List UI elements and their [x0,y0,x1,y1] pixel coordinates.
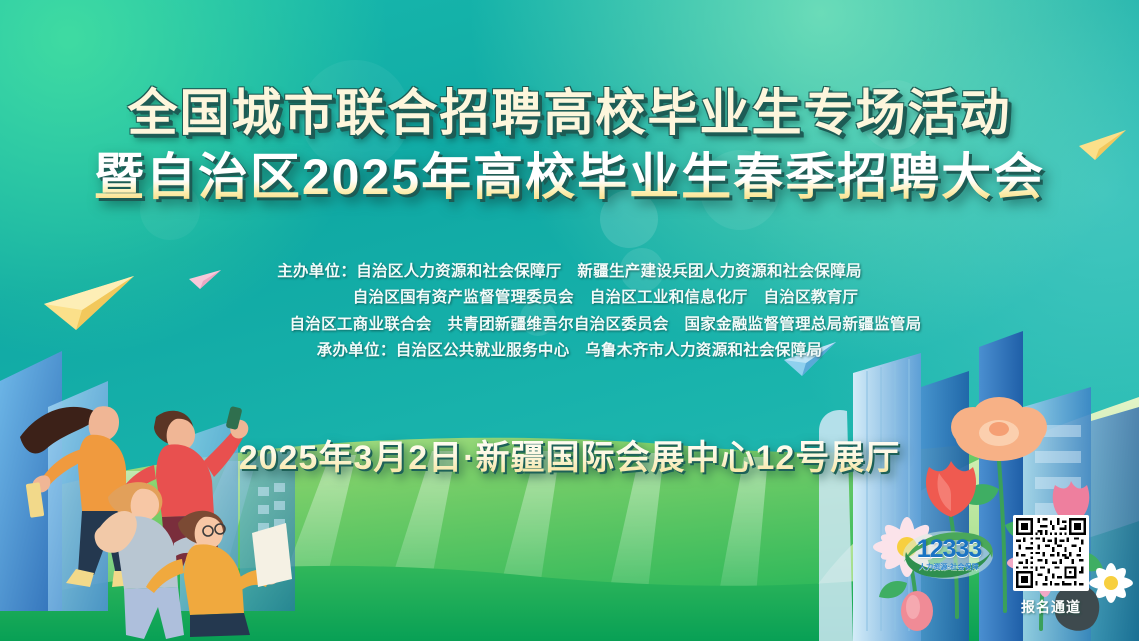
organizer-row: 自治区国有资产监督管理委员会 自治区工业和信息化厅 自治区教育厅 [0,285,1139,312]
hotline-subtitle: 人力资源·社会保障 [908,562,990,572]
organizer-row: 自治区工商业联合会 共青团新疆维吾尔自治区委员会 国家金融监督管理总局新疆监管局 [0,311,1139,338]
organizer-line: 自治区国有资产监督管理委员会 自治区工业和信息化厅 自治区教育厅 [281,285,859,312]
organizer-line: 主办单位：自治区人力资源和社会保障厅 新疆生产建设兵团人力资源和社会保障局 [277,258,862,285]
title-line-1: 全国城市联合招聘高校毕业生专场活动 [0,86,1139,140]
date-venue-text: 2025年3月2日·新疆国际会展中心12号展厅 [239,430,901,479]
date-venue-block: 2025年3月2日·新疆国际会展中心12号展厅 [0,430,1139,479]
title-line-2: 暨自治区2025年高校毕业生春季招聘大会 [0,150,1139,204]
organizer-row: 主办单位：自治区人力资源和社会保障厅 新疆生产建设兵团人力资源和社会保障局 [0,258,1139,285]
qr-code-icon[interactable] [1013,515,1089,591]
recruitment-poster: 全国城市联合招聘高校毕业生专场活动 暨自治区2025年高校毕业生春季招聘大会 主… [0,0,1139,641]
registration-qr-block[interactable]: 报名通道 [1013,515,1099,617]
hotline-number: 12333 [908,537,990,562]
hotline-12333-logo: 12333 人力资源·社会保障 [900,528,996,582]
organizer-block: 主办单位：自治区人力资源和社会保障厅 新疆生产建设兵团人力资源和社会保障局 自治… [0,258,1139,364]
poster-title: 全国城市联合招聘高校毕业生专场活动 暨自治区2025年高校毕业生春季招聘大会 [0,86,1139,204]
qr-code-matrix [1016,518,1086,588]
qr-code-label: 报名通道 [1013,597,1089,617]
organizer-line: 自治区工商业联合会 共青团新疆维吾尔自治区委员会 国家金融监督管理总局新疆监管局 [217,311,921,338]
organizer-line: 承办单位：自治区公共就业服务中心 乌鲁木齐市人力资源和社会保障局 [317,338,823,365]
organizer-row: 承办单位：自治区公共就业服务中心 乌鲁木齐市人力资源和社会保障局 [0,338,1139,365]
